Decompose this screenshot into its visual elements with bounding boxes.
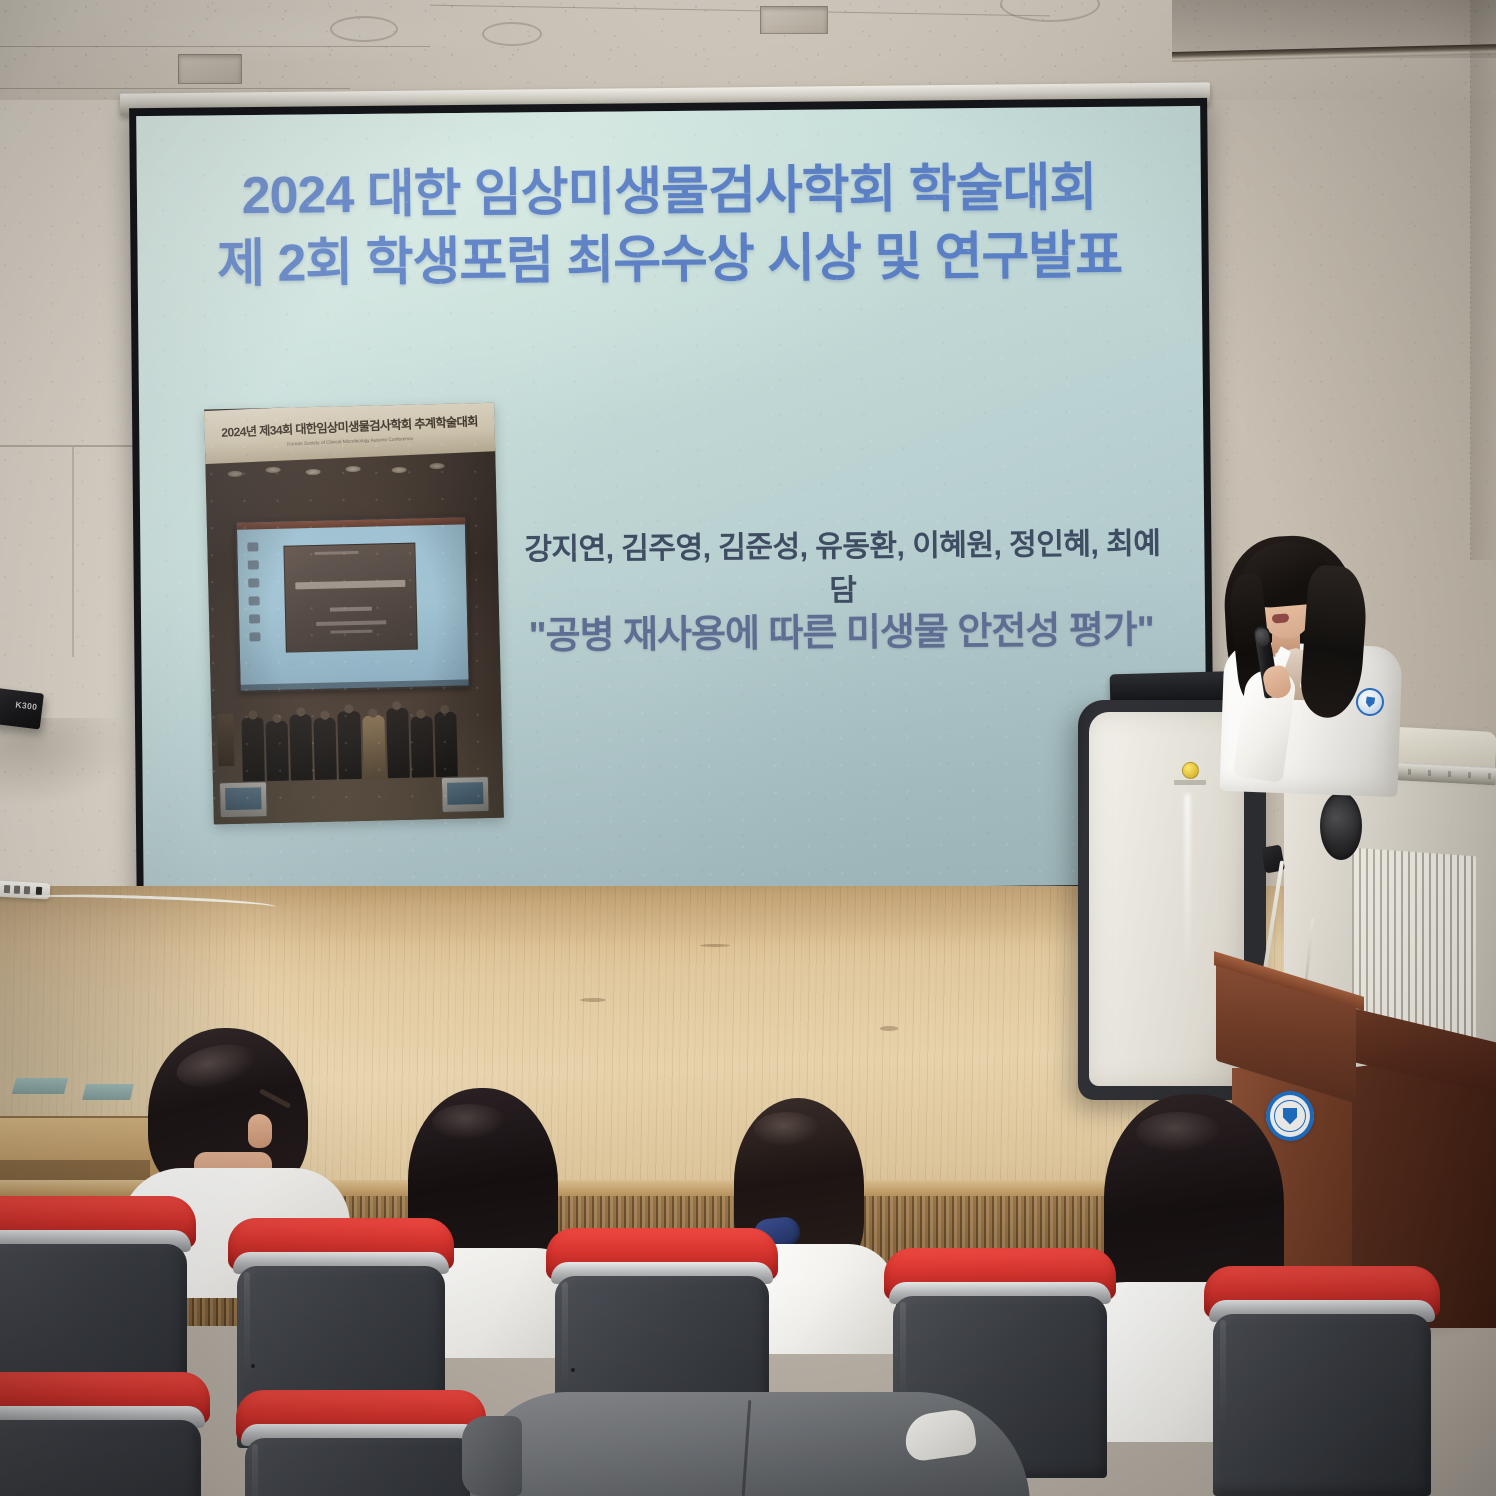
presentation-slide: 2024 대한 임상미생물검사학회 학술대회 제 2회 학생포럼 최우수상 시상… xyxy=(136,106,1207,894)
projection-screen: 2024 대한 임상미생물검사학회 학술대회 제 2회 학생포럼 최우수상 시상… xyxy=(129,98,1215,920)
puffer-jacket-cuff xyxy=(462,1416,522,1496)
auditorium-seat[interactable] xyxy=(1204,1266,1440,1496)
ac-badge-icon xyxy=(1182,762,1199,779)
university-crest-icon xyxy=(1266,1092,1314,1140)
floor-marker xyxy=(12,1078,68,1094)
wall-panel-seam xyxy=(72,447,74,657)
floor-marker xyxy=(82,1084,134,1100)
embedded-photo-vignette xyxy=(205,449,504,825)
embedded-banner-subtitle: Korean Society of Clinical Microbiology … xyxy=(287,436,413,447)
speaker-shadow xyxy=(0,718,130,804)
auditorium-seat[interactable] xyxy=(0,1372,210,1496)
slide-title-line2: 제 2회 학생포럼 최우수상 시상 및 연구발표 xyxy=(137,222,1202,300)
embedded-banner-title: 2024년 제34회 대한임상미생물검사학회 추계학술대회 xyxy=(221,413,478,441)
wall-panel-seam xyxy=(0,445,150,447)
wall-speaker: K300 xyxy=(0,686,44,729)
hair-highlight xyxy=(1136,1112,1222,1152)
ceiling-vent-icon xyxy=(760,6,828,34)
ceiling-light-icon xyxy=(330,16,398,42)
slide-research-title: "공병 재사용에 따른 미생물 안전성 평가" xyxy=(509,598,1173,659)
embedded-photo-hall xyxy=(205,449,504,825)
presenter xyxy=(1216,530,1406,790)
wall-corner xyxy=(1470,0,1496,560)
ac-badge-text xyxy=(1174,780,1206,785)
auditorium-seat[interactable] xyxy=(236,1390,486,1496)
control-desk-vent xyxy=(1320,792,1362,860)
speaker-label: K300 xyxy=(15,699,38,712)
audience-ear xyxy=(248,1114,272,1148)
hair-highlight xyxy=(432,1104,506,1140)
ceiling-seam xyxy=(0,88,350,89)
slide-title: 2024 대한 임상미생물검사학회 학술대회 제 2회 학생포럼 최우수상 시상… xyxy=(137,154,1202,299)
ceiling-seam xyxy=(0,46,430,47)
slide-title-line1: 2024 대한 임상미생물검사학회 학술대회 xyxy=(137,154,1202,232)
ceiling-light-icon xyxy=(482,22,542,46)
slide-embedded-photo: 2024년 제34회 대한임상미생물검사학회 추계학술대회 Korean Soc… xyxy=(204,403,504,825)
hair-highlight xyxy=(754,1112,820,1146)
ceiling-vent-icon xyxy=(178,54,242,84)
auditorium-scene: K300 2024 대한 임상미생물검사학회 학술대회 제 2회 학생포럼 최우… xyxy=(0,0,1496,1496)
